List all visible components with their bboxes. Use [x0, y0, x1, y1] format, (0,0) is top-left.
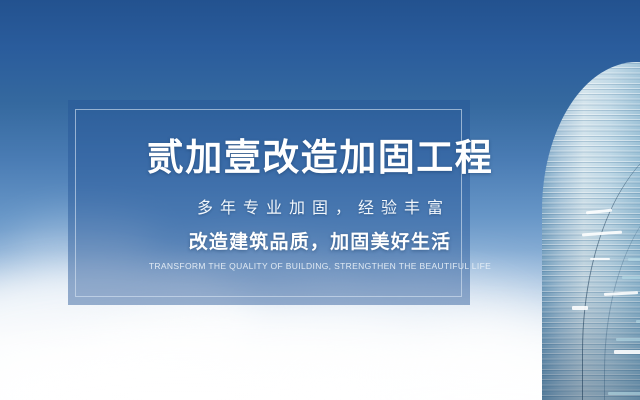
tower-window-glint — [614, 350, 640, 354]
tower-window-glint — [572, 306, 588, 310]
banner-subline: 多年专业加固，经验丰富 — [0, 198, 640, 220]
banner-tagline: 改造建筑品质，加固美好生活 — [0, 230, 640, 256]
tower-window — [608, 392, 640, 395]
tower-window — [636, 320, 640, 323]
banner-headline: 贰加壹改造加固工程 — [0, 134, 640, 182]
tower-window — [616, 338, 640, 341]
tower-window — [622, 276, 640, 279]
banner-english-tagline: TRANSFORM THE QUALITY OF BUILDING, STREN… — [0, 260, 640, 272]
hero-banner: 贰加壹改造加固工程 多年专业加固，经验丰富 改造建筑品质，加固美好生活 TRAN… — [0, 0, 640, 400]
